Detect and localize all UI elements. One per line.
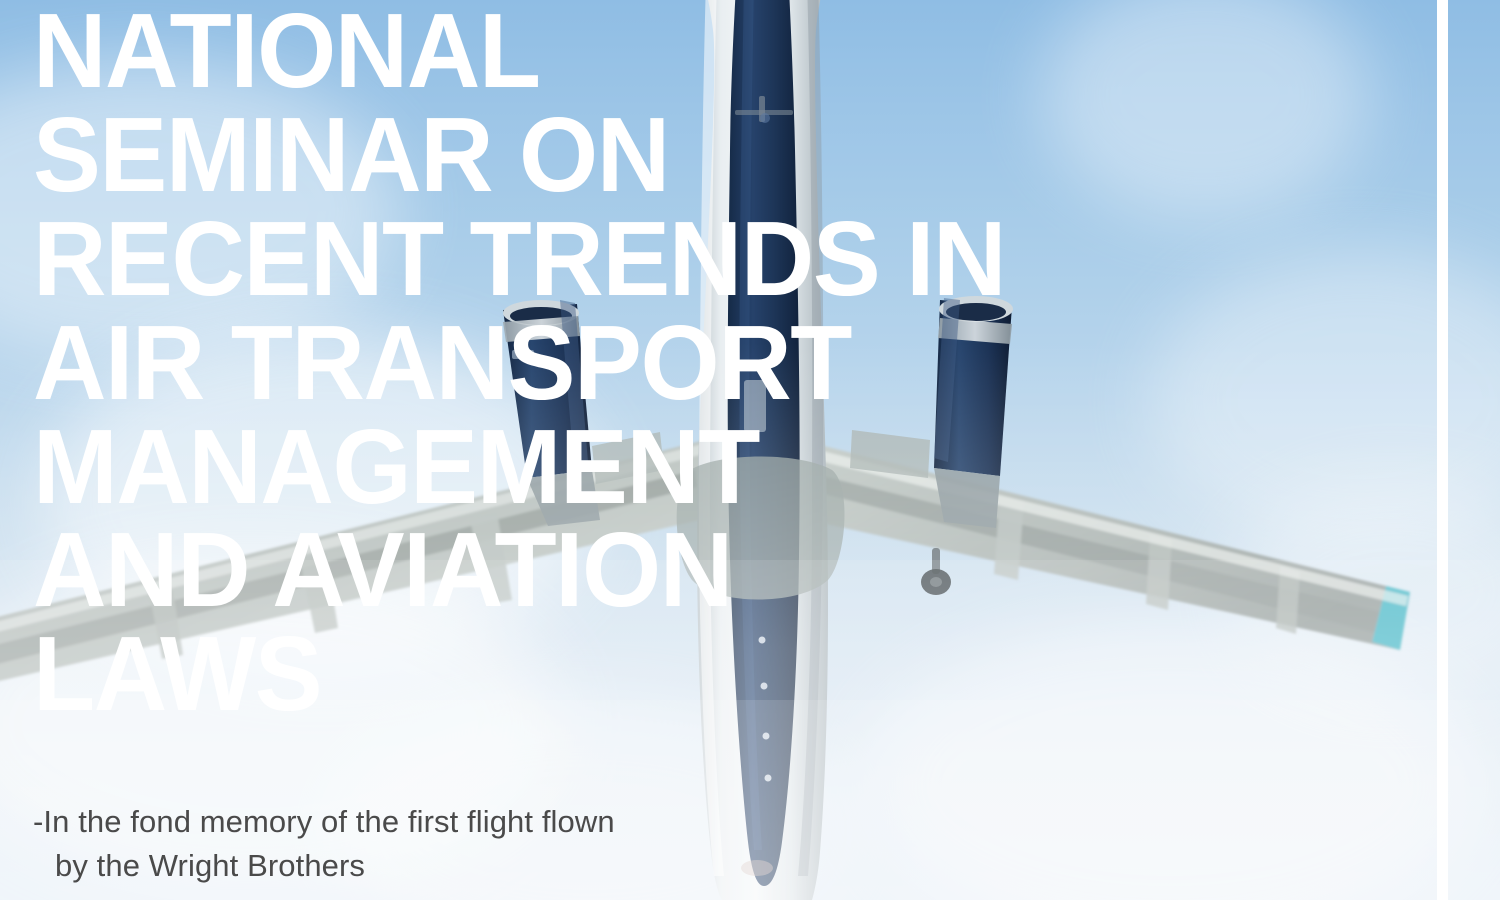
title-line-7: LAWS: [33, 623, 1233, 727]
title-line-1: NATIONAL: [33, 0, 1233, 104]
poster-title: NATIONAL SEMINAR ON RECENT TRENDS IN AIR…: [33, 0, 1283, 727]
poster-subtitle: -In the fond memory of the first flight …: [33, 800, 853, 888]
title-line-2: SEMINAR ON: [33, 104, 1233, 208]
poster-canvas: NATIONAL SEMINAR ON RECENT TRENDS IN AIR…: [0, 0, 1500, 900]
title-line-6: AND AVIATION: [33, 519, 1233, 623]
subtitle-line-1: -In the fond memory of the first flight …: [33, 800, 853, 844]
title-line-3: RECENT TRENDS IN: [33, 208, 1233, 312]
title-line-5: MANAGEMENT: [33, 416, 1233, 520]
subtitle-line-2: by the Wright Brothers: [33, 844, 853, 888]
right-vertical-divider: [1437, 0, 1448, 900]
title-line-4: AIR TRANSPORT: [33, 312, 1233, 416]
